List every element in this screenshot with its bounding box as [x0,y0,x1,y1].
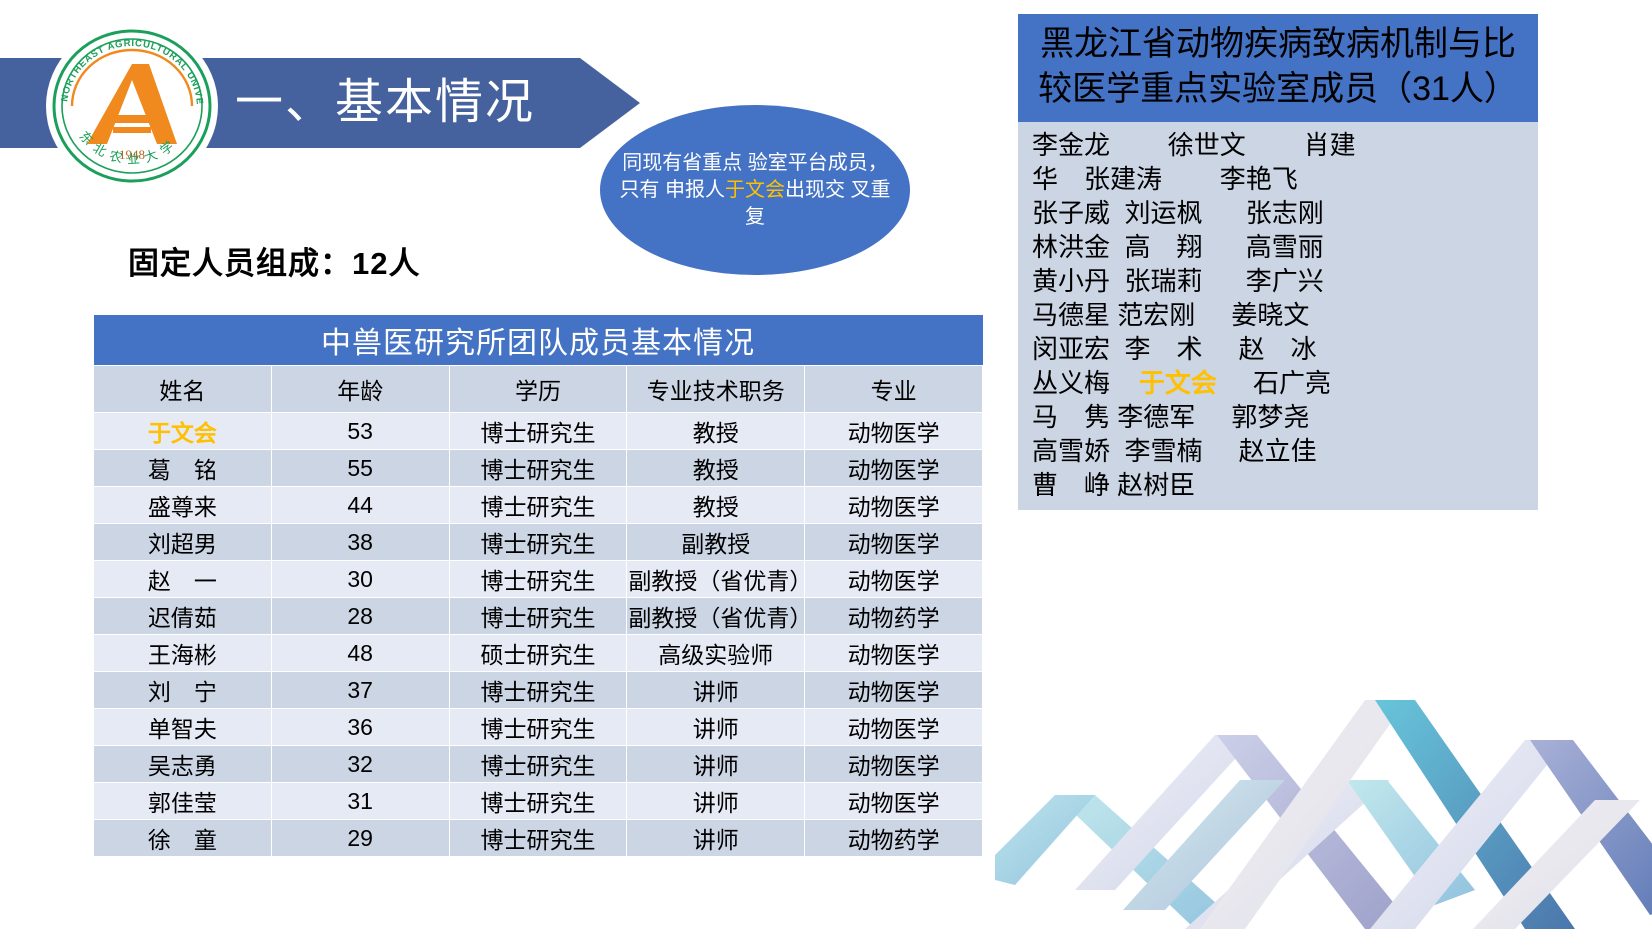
member-line: 马 隽 李德军 郭梦尧 [1032,400,1528,434]
table-row: 郭佳莹31博士研究生讲师动物医学 [94,783,983,820]
cell-edu: 博士研究生 [449,820,627,857]
cell-name: 葛 铭 [94,450,272,487]
member-line: 闵亚宏 李 术 赵 冰 [1032,332,1528,366]
cell-title: 教授 [627,413,805,450]
cell-major: 动物医学 [805,561,983,598]
cell-age: 53 [271,413,449,450]
highlighted-member-name: 于文会 [1139,368,1217,398]
cell-age: 37 [271,672,449,709]
cell-edu: 博士研究生 [449,672,627,709]
cell-title: 副教授（省优青） [627,561,805,598]
cell-major: 动物医学 [805,450,983,487]
member-line: 张子威 刘运枫 张志刚 [1032,196,1528,230]
table-row: 吴志勇32博士研究生讲师动物医学 [94,746,983,783]
table-row: 单智夫36博士研究生讲师动物医学 [94,709,983,746]
table-row: 葛 铭55博士研究生教授动物医学 [94,450,983,487]
cell-age: 36 [271,709,449,746]
cell-major: 动物医学 [805,783,983,820]
column-header-age: 年龄 [271,366,449,413]
cell-name: 赵 一 [94,561,272,598]
callout-text: 同现有省重点 验室平台成员，只有 申报人于文会出现交 叉重复 [615,150,895,231]
cell-major: 动物医学 [805,635,983,672]
cell-age: 38 [271,524,449,561]
cell-edu: 博士研究生 [449,709,627,746]
key-lab-members-panel: 黑龙江省动物疾病致病机制与比较医学重点实验室成员（31人） 李金龙 徐世文 肖建… [1018,14,1538,510]
table-row: 迟倩茹28博士研究生副教授（省优青）动物药学 [94,598,983,635]
table-row: 刘 宁37博士研究生讲师动物医学 [94,672,983,709]
cell-major: 动物药学 [805,820,983,857]
cell-edu: 博士研究生 [449,487,627,524]
cell-name: 王海彬 [94,635,272,672]
key-lab-panel-header: 黑龙江省动物疾病致病机制与比较医学重点实验室成员（31人） [1018,14,1538,122]
table-row: 盛尊来44博士研究生教授动物医学 [94,487,983,524]
cell-title: 副教授（省优青） [627,598,805,635]
table-row: 赵 一30博士研究生副教授（省优青）动物医学 [94,561,983,598]
cell-age: 44 [271,487,449,524]
cell-edu: 博士研究生 [449,450,627,487]
member-line: 林洪金 高 翔 高雪丽 [1032,230,1528,264]
cell-name: 徐 童 [94,820,272,857]
cell-edu: 博士研究生 [449,783,627,820]
key-lab-member-list: 李金龙 徐世文 肖建华 张建涛 李艳飞张子威 刘运枫 张志刚林洪金 高 翔 高雪… [1018,122,1538,510]
cell-title: 讲师 [627,709,805,746]
university-seal-icon: NORTHEAST AGRICULTURAL UNIVERSITY 1948 东… [45,22,220,190]
cell-age: 30 [271,561,449,598]
cell-title: 教授 [627,487,805,524]
cell-age: 48 [271,635,449,672]
ribbon-chevron-artwork [995,620,1652,929]
table-row: 徐 童29博士研究生讲师动物药学 [94,820,983,857]
cell-name: 盛尊来 [94,487,272,524]
cell-title: 讲师 [627,783,805,820]
table-row: 于文会53博士研究生教授动物医学 [94,413,983,450]
cell-title: 讲师 [627,672,805,709]
member-line: 高雪娇 李雪楠 赵立佳 [1032,434,1528,468]
column-header-education: 学历 [449,366,627,413]
cell-title: 教授 [627,450,805,487]
cell-edu: 博士研究生 [449,524,627,561]
member-line: 丛义梅 于文会 石广亮 [1032,366,1528,400]
cell-age: 55 [271,450,449,487]
cell-name: 吴志勇 [94,746,272,783]
member-line: 马德星 范宏刚 姜晓文 [1032,298,1528,332]
cell-title: 讲师 [627,746,805,783]
member-line-text: 丛义梅 [1032,368,1139,398]
table-body: 于文会53博士研究生教授动物医学葛 铭55博士研究生教授动物医学盛尊来44博士研… [94,413,983,857]
cell-title: 讲师 [627,820,805,857]
university-logo: NORTHEAST AGRICULTURAL UNIVERSITY 1948 东… [45,22,220,190]
member-line-text: 石广亮 [1217,368,1331,398]
cell-edu: 博士研究生 [449,598,627,635]
table-row: 王海彬48硕士研究生高级实验师动物医学 [94,635,983,672]
cell-edu: 博士研究生 [449,746,627,783]
fixed-staff-heading: 固定人员组成：12人 [128,238,420,283]
cell-name: 郭佳莹 [94,783,272,820]
cell-major: 动物药学 [805,598,983,635]
column-header-major: 专业 [805,366,983,413]
cell-name: 刘 宁 [94,672,272,709]
cell-edu: 博士研究生 [449,561,627,598]
cell-major: 动物医学 [805,746,983,783]
ribbon-chevron-svg [995,620,1652,929]
cell-major: 动物医学 [805,487,983,524]
table-row: 刘超男38博士研究生副教授动物医学 [94,524,983,561]
member-line: 华 张建涛 李艳飞 [1032,162,1528,196]
cell-major: 动物医学 [805,524,983,561]
cell-title: 副教授 [627,524,805,561]
cell-age: 28 [271,598,449,635]
cell-major: 动物医学 [805,709,983,746]
cell-major: 动物医学 [805,413,983,450]
cell-name: 单智夫 [94,709,272,746]
member-line: 黄小丹 张瑞莉 李广兴 [1032,264,1528,298]
column-header-name: 姓名 [94,366,272,413]
cell-name: 于文会 [94,413,272,450]
cell-name: 迟倩茹 [94,598,272,635]
callout-highlight-name: 于文会 [725,179,785,201]
cell-edu: 硕士研究生 [449,635,627,672]
page-title: 一、基本情况 [235,63,595,143]
cell-name: 刘超男 [94,524,272,561]
table-title-row: 中兽医研究所团队成员基本情况 [94,315,983,366]
cell-major: 动物医学 [805,672,983,709]
member-line: 李金龙 徐世文 肖建 [1032,128,1528,162]
team-members-table: 中兽医研究所团队成员基本情况 姓名 年龄 学历 专业技术职务 专业 于文会53博… [93,315,983,857]
table-header-row: 姓名 年龄 学历 专业技术职务 专业 [94,366,983,413]
cell-age: 29 [271,820,449,857]
member-line: 曹 峥 赵树臣 [1032,468,1528,502]
cell-age: 31 [271,783,449,820]
cell-age: 32 [271,746,449,783]
column-header-professional-title: 专业技术职务 [627,366,805,413]
callout-bubble: 同现有省重点 验室平台成员，只有 申报人于文会出现交 叉重复 [600,105,910,275]
table-title: 中兽医研究所团队成员基本情况 [94,315,983,366]
cell-edu: 博士研究生 [449,413,627,450]
cell-title: 高级实验师 [627,635,805,672]
